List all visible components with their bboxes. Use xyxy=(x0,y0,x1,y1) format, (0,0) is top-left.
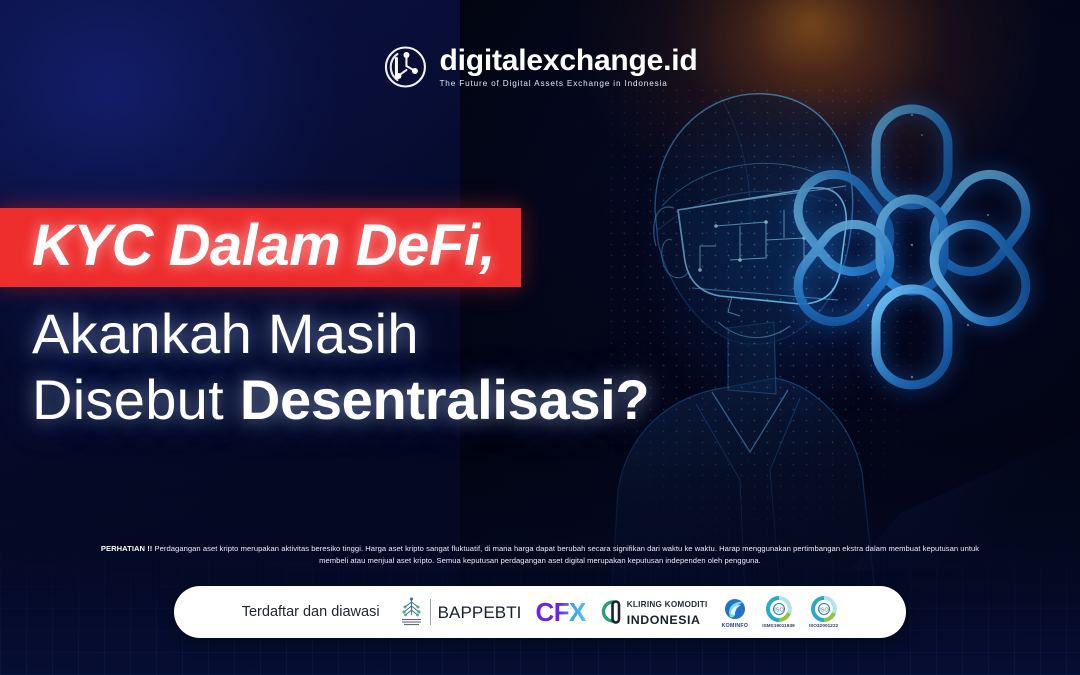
bappebti-crest-icon xyxy=(400,596,423,628)
bappebti-logo[interactable]: BAPPEBTI xyxy=(400,592,522,632)
disclaimer-body: Perdagangan aset kripto merupakan aktivi… xyxy=(152,544,979,565)
kki-line-1: KLIRING KOMODITI xyxy=(627,600,708,609)
headline-block: KYC Dalam DeFi, Akankah Masih Disebut De… xyxy=(0,208,820,433)
logo-divider xyxy=(430,599,431,625)
kominfo-wave-icon xyxy=(722,596,748,622)
headline-line-3: Disebut Desentralisasi? xyxy=(0,367,820,433)
kki-monogram-icon xyxy=(600,599,622,625)
headline-line-1: KYC Dalam DeFi, xyxy=(32,213,495,278)
disclaimer-label: PERHATIAN !! xyxy=(101,544,153,553)
svg-text:ISO: ISO xyxy=(819,608,829,614)
iso-certification-icon: ISO xyxy=(811,596,837,622)
circular-network-node-icon xyxy=(382,44,428,90)
brand-tagline: The Future of Digital Assets Exchange in… xyxy=(439,79,697,88)
kominfo-logo[interactable]: KOMINFO xyxy=(722,596,749,629)
headline-line-2: Akankah Masih xyxy=(0,301,820,367)
iso-badge-1-caption: ISMS19011939 xyxy=(762,623,795,628)
svg-text:ISO: ISO xyxy=(774,608,784,614)
cfx-wordmark[interactable]: CFX xyxy=(536,599,586,625)
iso-badge-1[interactable]: ISO ISMS19011939 xyxy=(762,596,795,628)
promo-banner: digitalexchange.id The Future of Digital… xyxy=(0,0,1080,675)
headline-highlight-band: KYC Dalam DeFi, xyxy=(0,208,521,287)
kki-line-2: INDONESIA xyxy=(627,613,701,627)
kliring-komoditi-indonesia-logo[interactable]: KLIRING KOMODITI INDONESIA xyxy=(600,595,708,628)
iso-certification-icon: ISO xyxy=(766,596,792,622)
iso-badge-2[interactable]: ISO ISO32001222 xyxy=(809,596,838,628)
bappebti-wordmark: BAPPEBTI xyxy=(438,604,522,621)
iso-badge-2-caption: ISO32001222 xyxy=(809,623,838,628)
risk-disclaimer: PERHATIAN !! Perdagangan aset kripto mer… xyxy=(100,543,980,568)
brand-name: digitalexchange.id xyxy=(439,46,697,77)
kominfo-caption: KOMINFO xyxy=(722,623,749,629)
regulator-label: Terdaftar dan diawasi xyxy=(242,604,380,620)
headline-line-3-prefix: Disebut xyxy=(32,368,240,431)
regulator-bar: Terdaftar dan diawasi xyxy=(174,586,906,638)
headline-line-3-emphasis: Desentralisasi? xyxy=(240,368,650,431)
brand-logo[interactable]: digitalexchange.id The Future of Digital… xyxy=(382,44,697,90)
